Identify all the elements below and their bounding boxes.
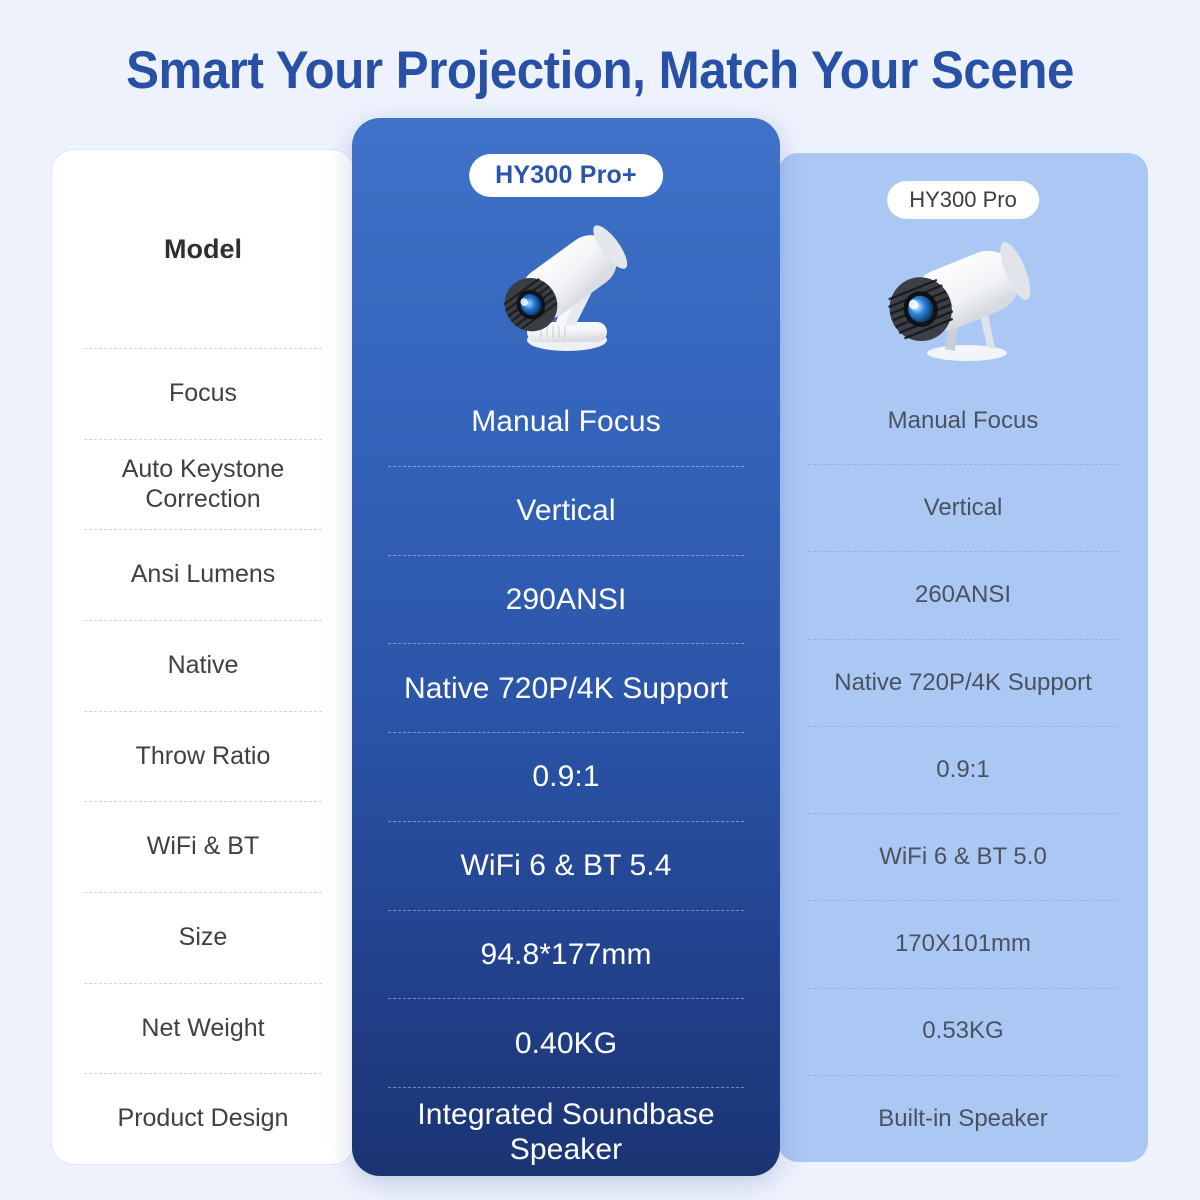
spec-value: Vertical <box>510 493 621 528</box>
spec-value: 94.8*177mm <box>474 937 657 972</box>
table-row: Native 720P/4K Support <box>808 639 1118 726</box>
hy300-pro-badge: HY300 Pro <box>887 181 1039 219</box>
hy300-pro-plus-row-list: Manual Focus Vertical 290ANSI Native 720… <box>352 378 780 1176</box>
spec-header-label: Model <box>164 234 242 265</box>
table-row: Auto Keystone Correction <box>84 439 322 530</box>
table-row: Throw Ratio <box>84 711 322 802</box>
spec-label: Auto Keystone Correction <box>84 455 322 514</box>
table-row: 260ANSI <box>808 551 1118 638</box>
spec-value: 0.9:1 <box>930 756 995 784</box>
table-row: Integrated Soundbase Speaker <box>388 1087 744 1176</box>
spec-value: 260ANSI <box>909 581 1017 609</box>
spec-label: Size <box>173 923 234 953</box>
page-title: Smart Your Projection, Match Your Scene <box>42 40 1158 101</box>
table-row: Vertical <box>808 464 1118 551</box>
table-row: Focus <box>84 348 322 439</box>
spec-value: 0.9:1 <box>526 759 605 794</box>
spec-column-header: Model <box>52 150 354 348</box>
table-row: WiFi 6 & BT 5.0 <box>808 813 1118 900</box>
table-row: 0.9:1 <box>388 732 744 821</box>
comparison-infographic: Smart Your Projection, Match Your Scene … <box>0 0 1200 1200</box>
spec-value: Manual Focus <box>465 404 667 439</box>
projector-icon <box>875 227 1051 367</box>
table-row: Manual Focus <box>388 378 744 466</box>
spec-value: Vertical <box>918 494 1009 522</box>
spec-label: WiFi & BT <box>141 832 266 862</box>
table-row: Ansi Lumens <box>84 529 322 620</box>
spec-label: Native <box>162 651 245 681</box>
table-row: Product Design <box>84 1073 322 1164</box>
hy300-pro-plus-badge: HY300 Pro+ <box>469 154 663 197</box>
table-row: Native 720P/4K Support <box>388 643 744 732</box>
hy300-pro-header: HY300 Pro <box>778 153 1148 378</box>
spec-label: Ansi Lumens <box>125 560 282 590</box>
spec-value: Built-in Speaker <box>872 1105 1053 1133</box>
table-row: Native <box>84 620 322 711</box>
table-row: WiFi & BT <box>84 801 322 892</box>
spec-label: Net Weight <box>135 1014 270 1044</box>
spec-label: Product Design <box>112 1104 295 1134</box>
spec-column-card: Model Focus Auto Keystone Correction Ans… <box>52 150 354 1164</box>
spec-value: 290ANSI <box>500 582 633 617</box>
table-row: Vertical <box>388 466 744 555</box>
spec-value: Native 720P/4K Support <box>398 671 734 706</box>
table-row: 0.9:1 <box>808 726 1118 813</box>
spec-value: WiFi 6 & BT 5.0 <box>873 843 1053 871</box>
hy300-pro-plus-header: HY300 Pro+ <box>352 118 780 378</box>
spec-value: WiFi 6 & BT 5.4 <box>454 848 677 883</box>
table-row: 290ANSI <box>388 555 744 644</box>
spec-row-list: Focus Auto Keystone Correction Ansi Lume… <box>52 348 354 1164</box>
spec-label: Focus <box>163 379 243 409</box>
spec-value: Integrated Soundbase Speaker <box>388 1097 744 1168</box>
spec-value: 0.53KG <box>916 1017 1009 1045</box>
hy300-pro-column-card: HY300 Pro <box>778 153 1148 1162</box>
table-row: Net Weight <box>84 983 322 1074</box>
spec-value: Manual Focus <box>882 407 1045 435</box>
table-row: 0.40KG <box>388 998 744 1087</box>
table-row: Built-in Speaker <box>808 1075 1118 1162</box>
hy300-pro-row-list: Manual Focus Vertical 260ANSI Native 720… <box>778 378 1148 1162</box>
hy300-pro-plus-column-card: HY300 Pro+ <box>352 118 780 1176</box>
table-row: Manual Focus <box>808 378 1118 464</box>
table-row: 94.8*177mm <box>388 910 744 999</box>
projector-icon <box>471 206 661 356</box>
table-row: 170X101mm <box>808 900 1118 987</box>
table-row: 0.53KG <box>808 988 1118 1075</box>
spec-value: 170X101mm <box>889 930 1037 958</box>
table-row: Size <box>84 892 322 983</box>
table-row: WiFi 6 & BT 5.4 <box>388 821 744 910</box>
spec-value: Native 720P/4K Support <box>828 669 1098 697</box>
spec-label: Throw Ratio <box>130 742 277 772</box>
spec-value: 0.40KG <box>509 1026 623 1061</box>
